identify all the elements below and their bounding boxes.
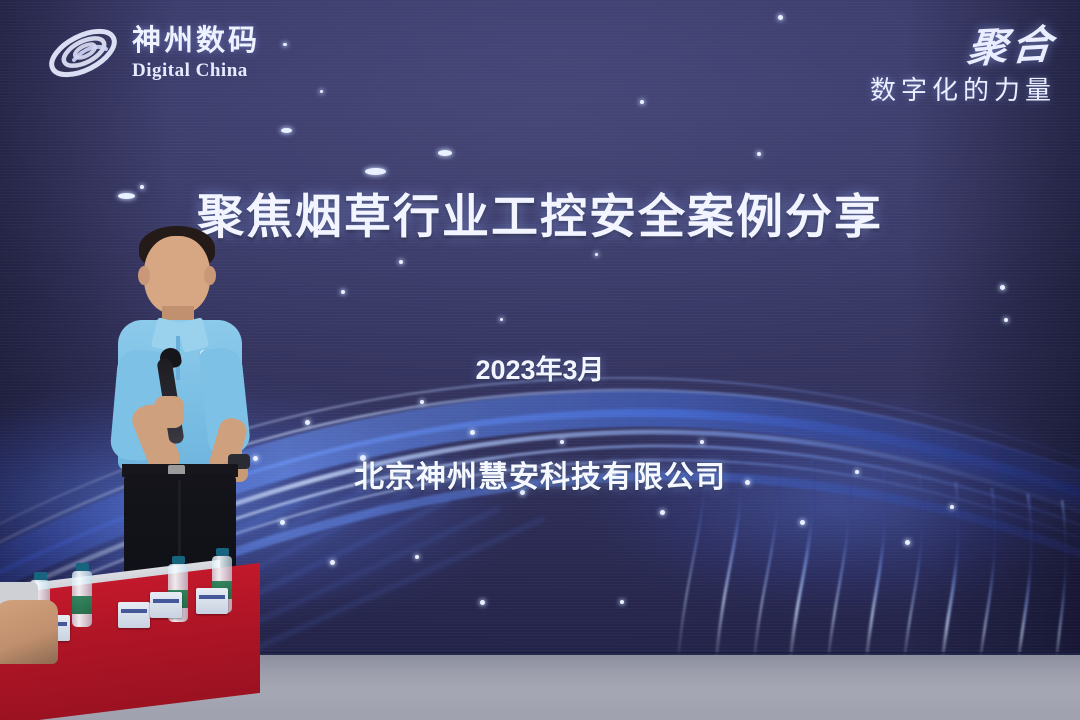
speaker-ear-right [204, 266, 216, 285]
water-bottle [72, 563, 92, 627]
logo-name-en: Digital China [132, 61, 260, 80]
speaker-hand-left [154, 396, 184, 428]
swirl-logo-icon [44, 22, 122, 84]
bottle-cap [76, 563, 89, 571]
event-slogan-logo: 聚合 数字化的力量 [870, 14, 1056, 107]
name-card-strip [199, 595, 225, 599]
name-card [118, 602, 150, 628]
slogan-mark: 聚合 [965, 12, 1059, 75]
speaker-ear-left [138, 266, 150, 285]
name-card [196, 588, 228, 614]
bottle-label [72, 596, 92, 614]
bottle-cap [216, 548, 229, 556]
bottle-body [72, 571, 92, 627]
logo-wordmark: 神州数码 Digital China [132, 27, 260, 80]
bottle-cap [34, 572, 47, 580]
name-card [150, 592, 182, 618]
speaker-head [144, 236, 210, 314]
bottle-cap [172, 556, 185, 564]
name-card-strip [121, 609, 147, 613]
digital-china-logo: 神州数码 Digital China [44, 22, 260, 84]
name-card-strip [153, 599, 179, 603]
slogan-subtitle: 数字化的力量 [870, 70, 1056, 107]
stage-photo: 神州数码 Digital China 聚合 数字化的力量 聚焦烟草行业工控安全案… [0, 0, 1080, 720]
seated-person-hands [0, 600, 58, 664]
logo-name-cn: 神州数码 [132, 27, 260, 56]
